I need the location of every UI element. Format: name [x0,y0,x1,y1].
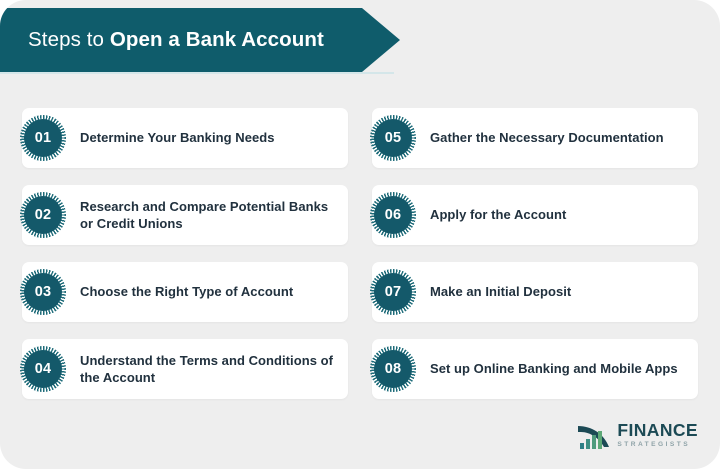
logo-name-primary: FINANCE [617,422,698,440]
step-number-badge: 07 [370,269,416,315]
step-card: 04 Understand the Terms and Conditions o… [22,339,348,399]
step-card: 05 Gather the Necessary Documentation [372,108,698,168]
logo-wordmark: FINANCE STRATEGISTS [617,422,698,449]
step-card: 08 Set up Online Banking and Mobile Apps [372,339,698,399]
step-label: Research and Compare Potential Banks or … [80,198,336,232]
infographic-panel: Steps to Open a Bank Account 01 Determin… [0,0,720,469]
step-label: Choose the Right Type of Account [80,283,293,300]
step-card: 03 Choose the Right Type of Account [22,262,348,322]
step-label: Apply for the Account [430,206,566,223]
step-label: Determine Your Banking Needs [80,129,275,146]
step-number-badge: 01 [20,115,66,161]
step-number-badge: 06 [370,192,416,238]
step-number: 05 [385,131,402,146]
header-divider [0,72,394,74]
steps-grid: 01 Determine Your Banking Needs 05 Gathe… [22,108,698,399]
step-label: Gather the Necessary Documentation [430,129,664,146]
logo-name-secondary: STRATEGISTS [617,442,698,449]
brand-logo: FINANCE STRATEGISTS [577,419,698,451]
header-banner: Steps to Open a Bank Account [0,8,400,72]
finance-strategists-logo-mark-icon [577,419,611,451]
page-title-emphasis: Open a Bank Account [110,28,324,51]
step-number-badge: 08 [370,346,416,392]
step-label: Make an Initial Deposit [430,283,571,300]
step-number: 03 [35,285,52,300]
page-title: Steps to Open a Bank Account [0,28,324,52]
step-number-badge: 03 [20,269,66,315]
step-number: 04 [35,362,52,377]
step-card: 06 Apply for the Account [372,185,698,245]
page-title-prefix: Steps to [28,28,110,51]
step-number: 01 [35,131,52,146]
step-card: 02 Research and Compare Potential Banks … [22,185,348,245]
step-card: 01 Determine Your Banking Needs [22,108,348,168]
step-number: 07 [385,285,402,300]
step-number: 08 [385,362,402,377]
step-number: 02 [35,208,52,223]
step-number-badge: 04 [20,346,66,392]
step-label: Understand the Terms and Conditions of t… [80,352,336,386]
step-card: 07 Make an Initial Deposit [372,262,698,322]
step-number: 06 [385,208,402,223]
step-label: Set up Online Banking and Mobile Apps [430,360,678,377]
infographic-root: Steps to Open a Bank Account 01 Determin… [0,0,720,469]
step-number-badge: 05 [370,115,416,161]
step-number-badge: 02 [20,192,66,238]
